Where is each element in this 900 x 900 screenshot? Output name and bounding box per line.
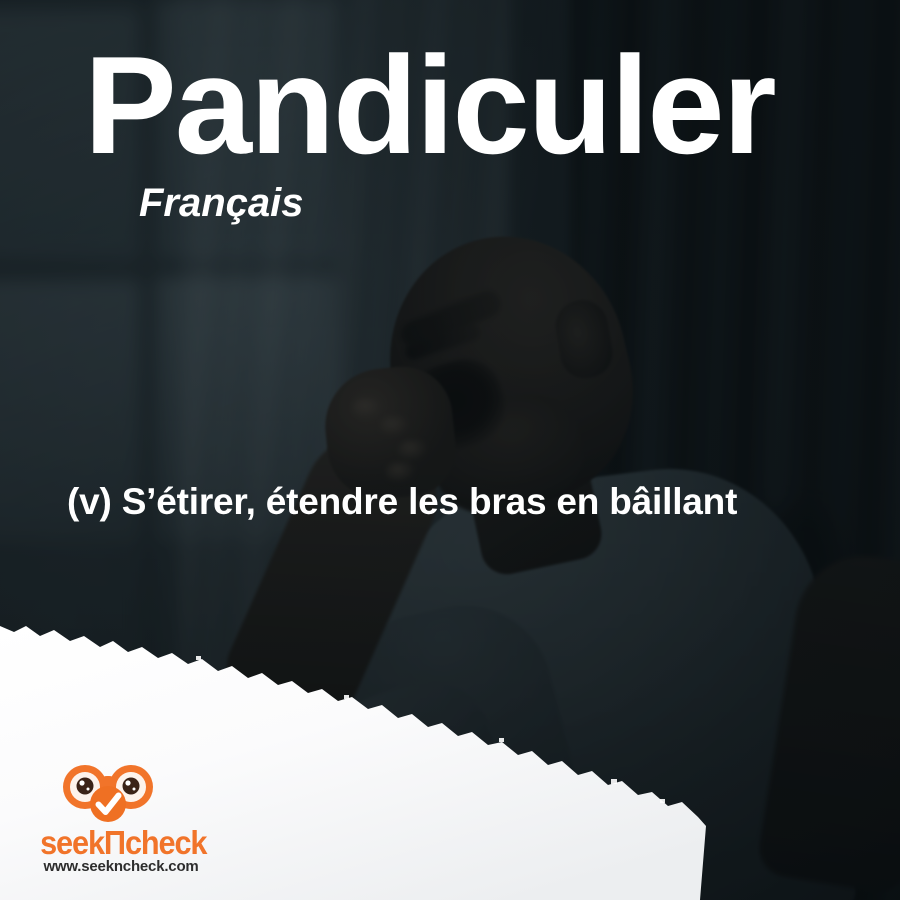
- word-headline: Pandiculer: [84, 36, 775, 175]
- definition-text: (v) S’étirer, étendre les bras en bâilla…: [67, 481, 737, 523]
- brand-wordmark: seekΠcheck: [40, 826, 202, 859]
- social-card: Pandiculer Français (v) S’étirer, étendr…: [0, 0, 900, 900]
- binocular-eyes-check-icon: [60, 764, 156, 826]
- brand-url: www.seekncheck.com: [34, 859, 208, 874]
- brand-logo[interactable]: seekΠcheck www.seekncheck.com: [34, 764, 244, 876]
- language-label: Français: [139, 181, 304, 226]
